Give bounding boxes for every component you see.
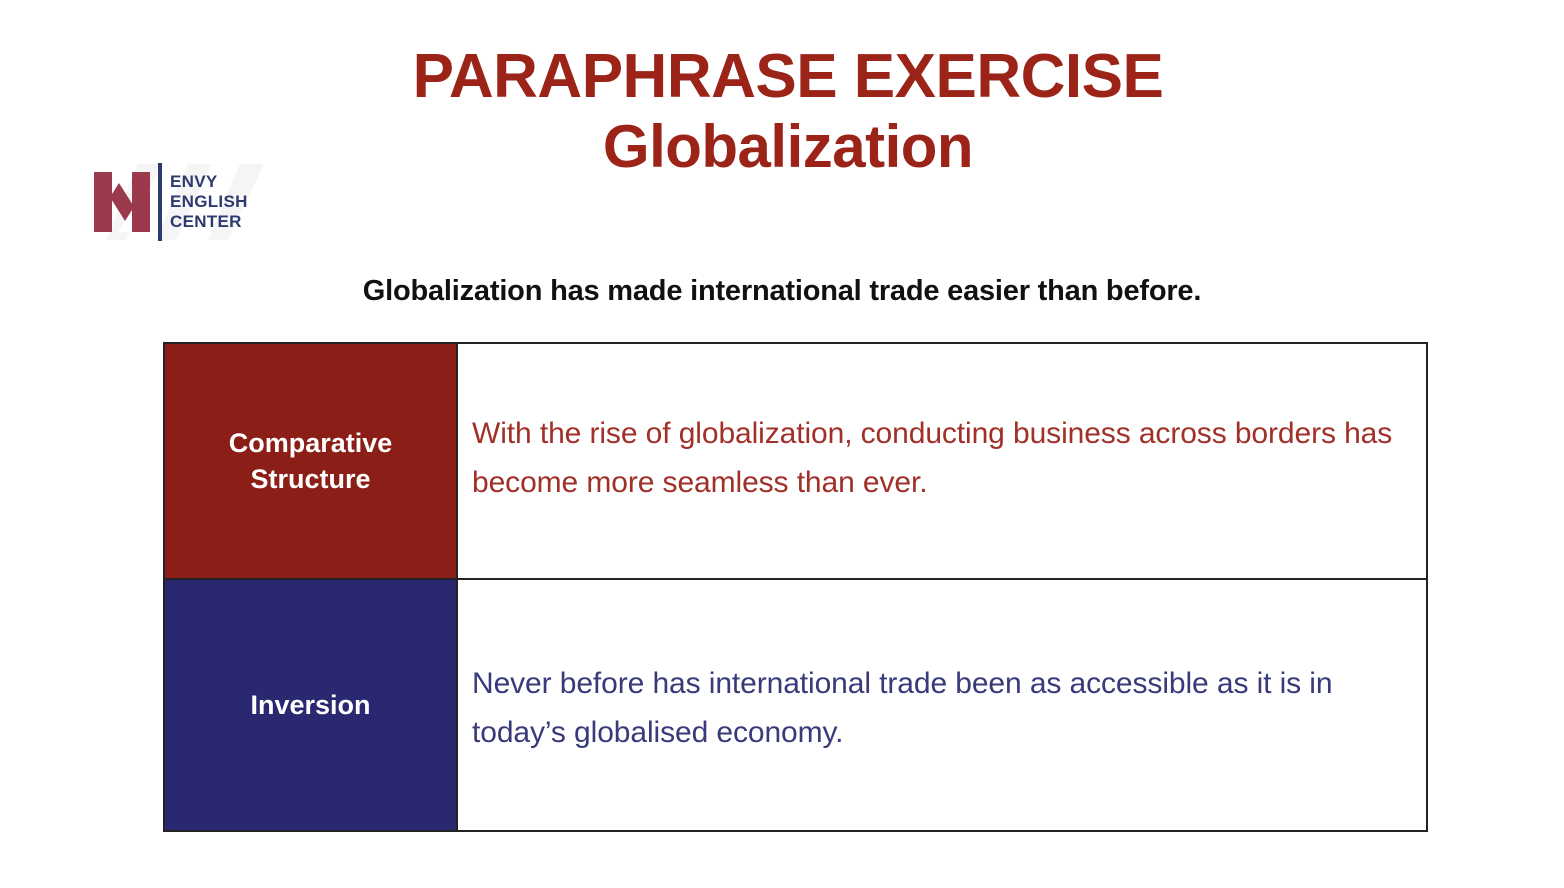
row-body-comparative-structure: With the rise of globalization, conducti… <box>458 344 1426 578</box>
row-label-comparative-structure: Comparative Structure <box>165 344 458 578</box>
logo-word-envy: ENVY <box>170 172 248 192</box>
source-sentence: Globalization has made international tra… <box>0 275 1564 308</box>
title-line-primary: PARAPHRASE EXERCISE <box>12 44 1564 109</box>
logo-divider <box>158 163 162 241</box>
paraphrase-text-inversion: Never before has international trade bee… <box>472 660 1408 757</box>
logo-word-english: ENGLISH <box>170 192 248 212</box>
table-row: Inversion Never before has international… <box>165 580 1426 830</box>
paraphrase-text-comparative: With the rise of globalization, conducti… <box>472 410 1408 507</box>
paraphrase-table: Comparative Structure With the rise of g… <box>163 342 1428 832</box>
row-body-inversion: Never before has international trade bee… <box>458 580 1426 830</box>
row-label-inversion: Inversion <box>165 580 458 830</box>
logo-wordmark: ENVY ENGLISH CENTER <box>170 172 248 231</box>
logo-word-center: CENTER <box>170 212 248 232</box>
logo-n-icon <box>92 164 154 240</box>
brand-logo: ENVY ENGLISH CENTER <box>92 158 272 246</box>
table-row: Comparative Structure With the rise of g… <box>165 344 1426 580</box>
